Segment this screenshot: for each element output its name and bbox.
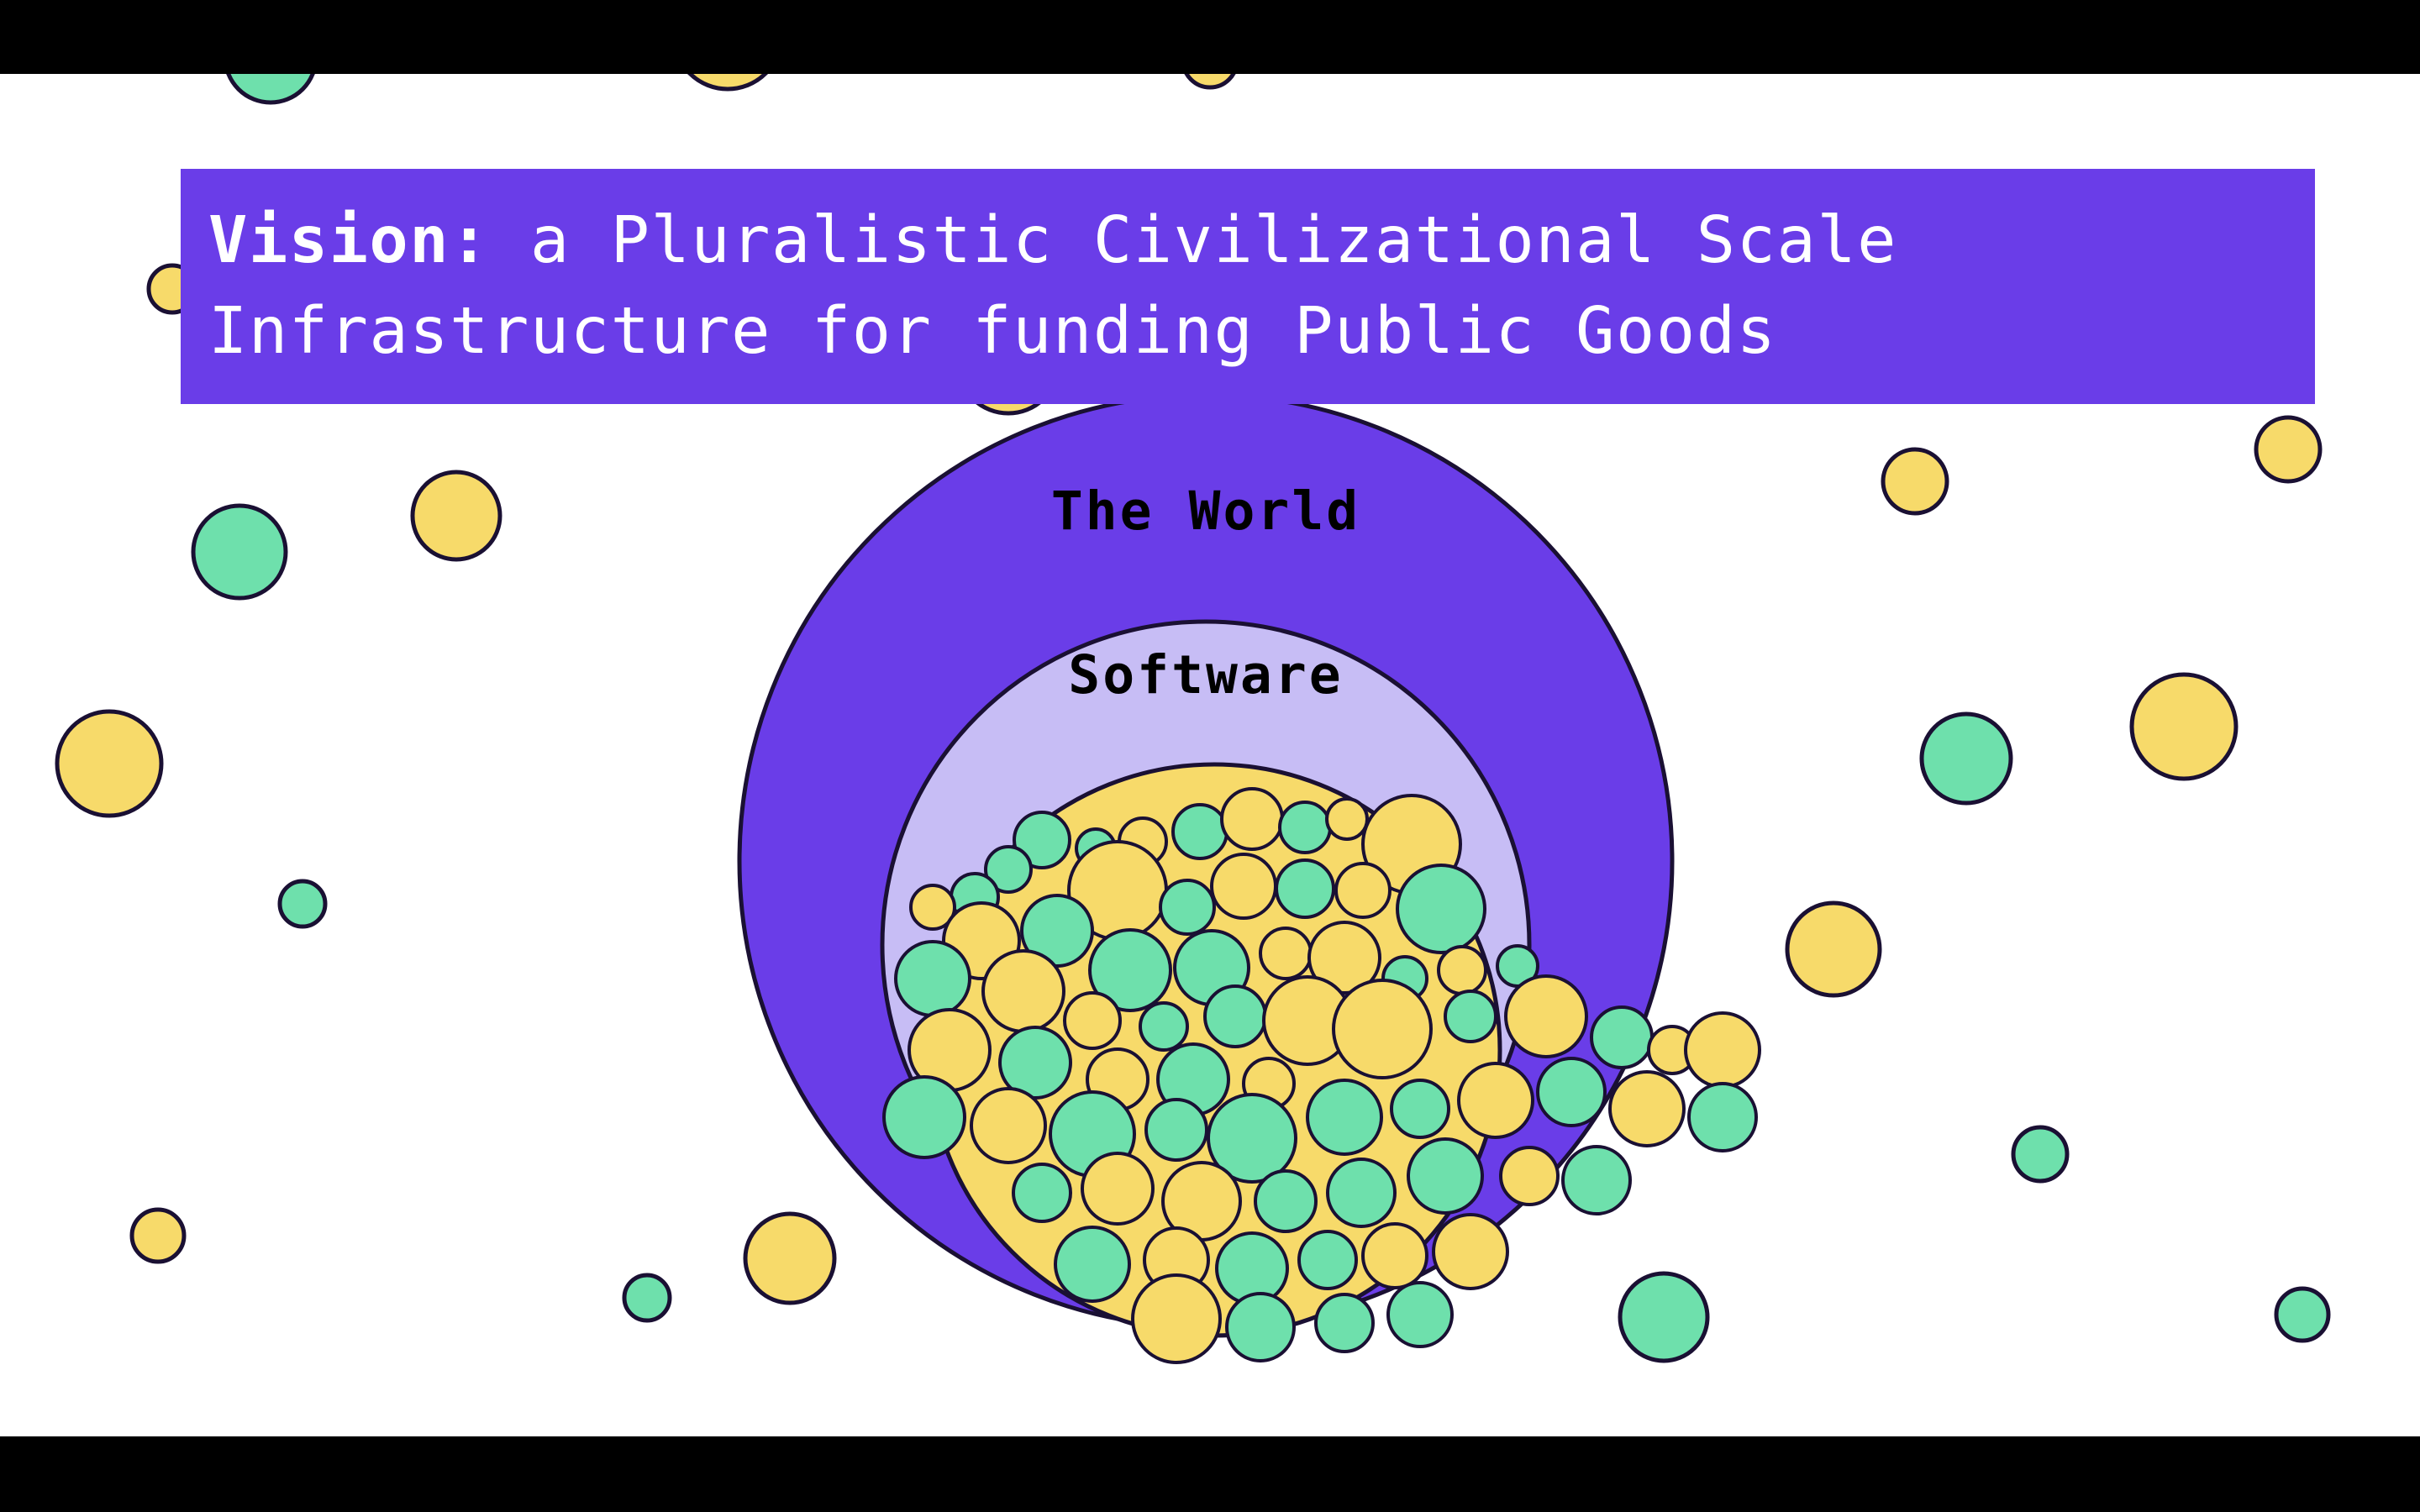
project-bubble — [1610, 1072, 1684, 1146]
project-bubble — [1205, 986, 1265, 1047]
project-bubble — [1255, 1171, 1316, 1231]
inner-ring-label: Software — [1068, 644, 1343, 706]
project-bubble — [1439, 947, 1486, 994]
project-bubble — [1146, 1100, 1207, 1160]
project-bubble — [1280, 802, 1330, 853]
project-bubble — [1506, 976, 1586, 1057]
banner-line-1: Vision: a Pluralistic Civilizational Sca… — [208, 196, 2315, 286]
project-bubble — [1276, 860, 1334, 917]
slide-stage: The World Software Vision: a Pluralistic… — [0, 0, 2420, 1512]
project-bubble — [1140, 1003, 1187, 1050]
project-bubble — [1065, 993, 1120, 1048]
banner-vision-keyword: Vision: — [208, 203, 490, 278]
project-bubble — [1260, 928, 1311, 979]
project-bubble — [1445, 991, 1496, 1042]
project-bubble — [1336, 864, 1390, 917]
project-bubble — [1212, 854, 1276, 918]
project-bubble — [1082, 1153, 1153, 1224]
project-bubble — [1055, 1227, 1129, 1301]
banner-line-1-rest: a Pluralistic Civilizational Scale — [490, 203, 1897, 278]
project-bubble — [896, 942, 970, 1016]
project-bubble — [1501, 1147, 1558, 1205]
project-bubble — [884, 1077, 965, 1158]
project-bubble — [1316, 1294, 1373, 1352]
project-bubble — [1222, 789, 1282, 849]
project-bubble — [1363, 1224, 1427, 1288]
project-bubble — [1538, 1058, 1605, 1126]
banner-line-2: Infrastructure for funding Public Goods — [208, 286, 2315, 377]
slide-canvas: The World Software Vision: a Pluralistic… — [0, 74, 2420, 1436]
project-bubble — [1160, 880, 1214, 934]
project-bubble — [1133, 1275, 1220, 1362]
vision-title-banner: Vision: a Pluralistic Civilizational Sca… — [181, 169, 2315, 404]
project-bubble — [1686, 1013, 1760, 1087]
project-bubble — [1307, 1080, 1381, 1154]
project-bubble — [983, 951, 1064, 1032]
project-bubble — [1391, 1080, 1449, 1137]
project-bubble — [1334, 980, 1431, 1078]
project-bubble — [1328, 1159, 1395, 1226]
letterbox-bottom — [0, 1436, 2420, 1512]
letterbox-top — [0, 0, 2420, 74]
project-bubble — [971, 1089, 1045, 1163]
project-bubble — [1327, 799, 1367, 839]
project-bubble — [1013, 1164, 1071, 1221]
project-bubble — [1434, 1215, 1507, 1289]
project-bubble — [1408, 1139, 1482, 1213]
project-bubble — [1173, 805, 1227, 858]
project-bubble — [1388, 1283, 1452, 1347]
project-bubble — [1591, 1007, 1652, 1068]
project-bubble — [1397, 865, 1485, 953]
project-bubble — [1689, 1084, 1756, 1151]
outer-ring-label: The World — [1051, 480, 1360, 542]
project-bubble — [1459, 1063, 1533, 1137]
project-bubble — [1227, 1294, 1294, 1361]
project-bubble — [1563, 1147, 1630, 1214]
project-bubble — [1299, 1231, 1356, 1289]
